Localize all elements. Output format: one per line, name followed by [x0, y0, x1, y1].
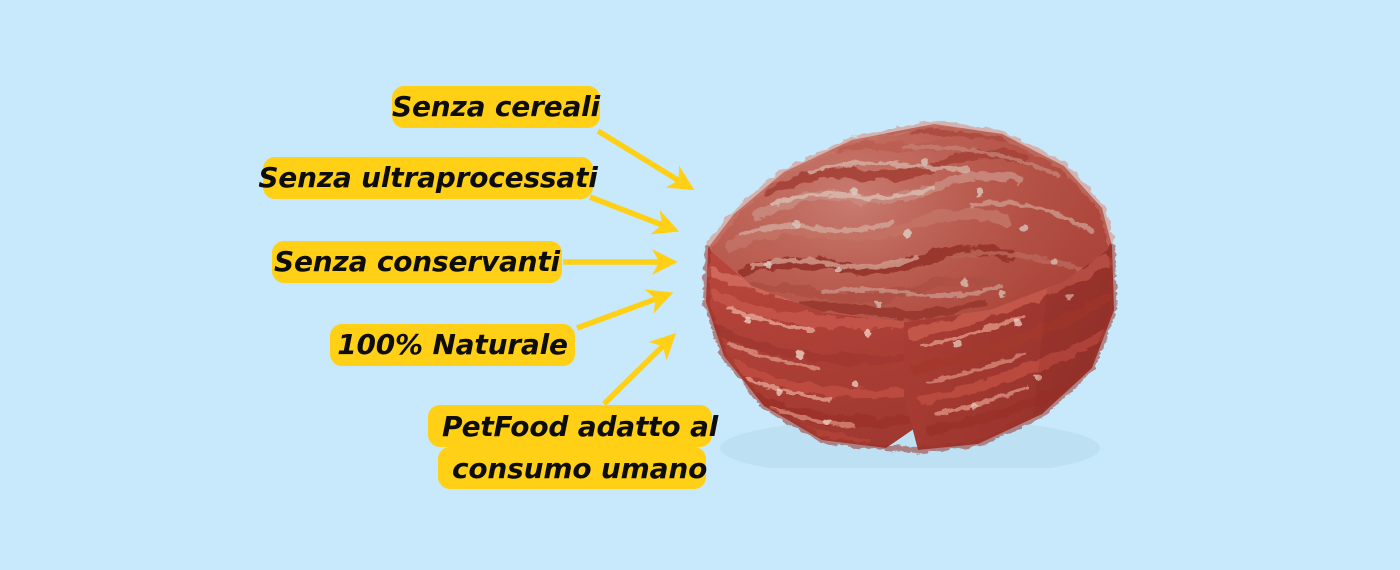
badge-senza-cereali[interactable]: Senza cereali [392, 86, 600, 128]
ground-beef-image [672, 96, 1152, 468]
badge-label: Senza ultraprocessati [258, 164, 597, 192]
badge-petfood-adatto-al-consumo-umano[interactable]: PetFood adatto al consumo umano [428, 405, 712, 489]
badge-senza-ultraprocessati[interactable]: Senza ultraprocessati [263, 157, 593, 199]
arrow-petfood-umano [604, 340, 669, 404]
infographic-canvas: Senza cereali Senza ultraprocessati Senz… [0, 0, 1400, 570]
arrow-100-naturale [577, 296, 664, 328]
badge-label: Senza cereali [392, 93, 600, 121]
badge-label-line-2: consumo umano [438, 447, 706, 489]
badge-100-naturale[interactable]: 100% Naturale [330, 324, 575, 366]
badge-senza-conservanti[interactable]: Senza conservanti [272, 241, 562, 283]
arrow-senza-ultraprocessati [590, 197, 670, 228]
badge-label-line-1: PetFood adatto al [428, 405, 712, 447]
badge-label: 100% Naturale [337, 331, 568, 359]
badge-label: Senza conservanti [274, 248, 560, 276]
